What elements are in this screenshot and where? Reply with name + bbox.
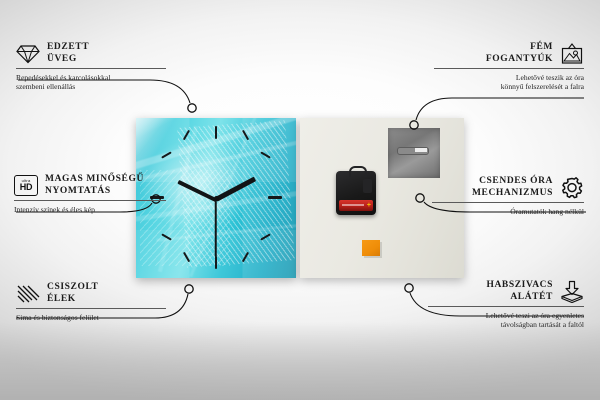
feature-header: ultra HD MAGAS MINŐSÉGŰ NYOMTATÁS: [14, 174, 166, 197]
feature-header: EDZETT ÜVEG: [16, 42, 166, 65]
metal-hanger-plate: [388, 128, 440, 178]
clock-tick: [215, 256, 217, 269]
divider: [14, 200, 166, 201]
feature-tempered-glass[interactable]: EDZETT ÜVEG Repedésekkel és karcolásokka…: [16, 42, 166, 92]
divider: [428, 306, 584, 307]
feature-desc: Óramutatók hang nélkül: [432, 207, 584, 217]
diamond-icon: [16, 43, 40, 65]
feature-title: CSENDES ÓRA MECHANIZMUS: [472, 176, 553, 199]
feature-polished-edges[interactable]: CSISZOLT ÉLEK Sima és biztonságos felüle…: [16, 282, 166, 322]
feature-desc: könnyű felszerelését a falra: [434, 82, 584, 92]
feature-desc: Lehetővé teszik az óra: [434, 73, 584, 83]
divider: [432, 202, 584, 203]
mechanism-hanger-loop: [349, 166, 367, 177]
divider: [16, 68, 166, 69]
foam-pad-arrow-icon: [560, 281, 584, 303]
feature-metal-hooks[interactable]: FÉM FOGANTYÚK Lehetővé teszik az óra kön…: [434, 42, 584, 92]
feature-header: FÉM FOGANTYÚK: [434, 42, 584, 65]
feature-title: EDZETT ÜVEG: [47, 42, 89, 65]
feature-title: HABSZIVACS ALÁTÉT: [486, 280, 553, 303]
feature-silent-mechanism[interactable]: CSENDES ÓRA MECHANIZMUS Óramutatók hang …: [432, 176, 584, 216]
feature-title: MAGAS MINŐSÉGŰ NYOMTATÁS: [45, 174, 144, 197]
feature-desc: Lehetővé teszi az óra egyenletes: [428, 311, 584, 321]
clock-mechanism-box: +: [336, 171, 376, 215]
feature-desc: Sima és biztonságos felület: [16, 313, 166, 323]
battery: +: [339, 200, 373, 211]
feature-high-quality-print[interactable]: ultra HD MAGAS MINŐSÉGŰ NYOMTATÁS Intenz…: [14, 174, 166, 214]
clock-center-cap: [214, 196, 219, 201]
picture-hanger-icon: [560, 43, 584, 65]
divider: [16, 308, 166, 309]
foam-pad: [362, 240, 380, 256]
feature-desc: szembeni ellenállás: [16, 82, 166, 92]
feature-desc: Intenzív színek és éles kép: [14, 205, 166, 215]
mechanism-knob: [363, 179, 372, 193]
polished-edges-icon: [16, 283, 40, 305]
feature-title: FÉM FOGANTYÚK: [486, 42, 553, 65]
feature-title: CSISZOLT ÉLEK: [47, 282, 98, 305]
product-photo: +: [136, 118, 464, 278]
gear-icon: [560, 177, 584, 199]
feature-header: CSENDES ÓRA MECHANIZMUS: [432, 176, 584, 199]
clock-tick: [215, 126, 217, 139]
hanger-slot: [397, 147, 429, 155]
feature-header: CSISZOLT ÉLEK: [16, 282, 166, 305]
feature-header: HABSZIVACS ALÁTÉT: [428, 280, 584, 303]
clock-tick: [268, 196, 282, 199]
feature-foam-pad[interactable]: HABSZIVACS ALÁTÉT Lehetővé teszi az óra …: [428, 280, 584, 330]
divider: [434, 68, 584, 69]
clock-second-hand: [215, 199, 217, 257]
ultra-hd-icon: ultra HD: [14, 175, 38, 197]
feature-desc: Repedésekkel és karcolásokkal: [16, 73, 166, 83]
feature-desc: távolságban tartását a faltól: [428, 320, 584, 330]
infographic-canvas: + EDZETT ÜVEG: [0, 0, 600, 400]
